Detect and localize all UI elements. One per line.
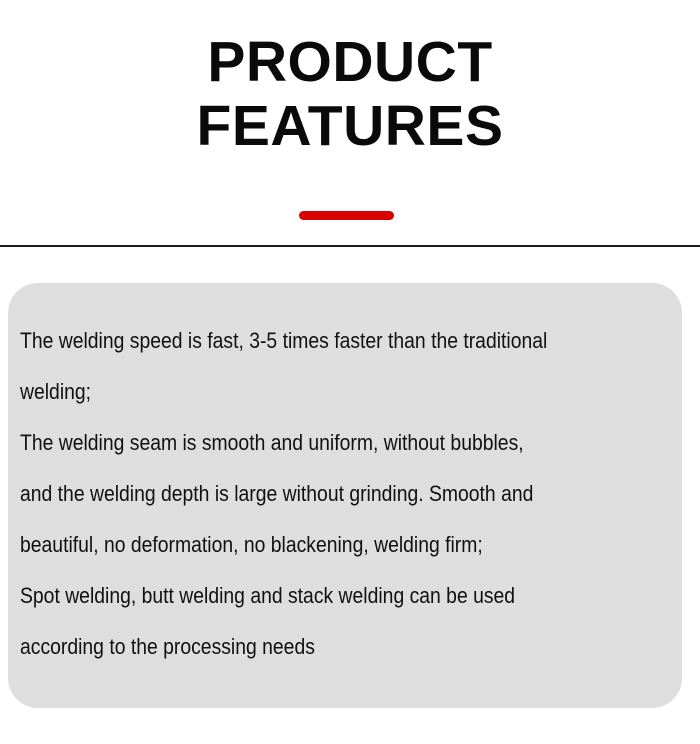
title-accent-bar [299, 211, 394, 220]
page-header: PRODUCT FEATURES [0, 0, 700, 245]
product-features-page: PRODUCT FEATURES The welding speed is fa… [0, 0, 700, 744]
feature-list-panel: The welding speed is fast, 3-5 times fas… [8, 283, 682, 708]
header-divider [0, 245, 700, 247]
page-title: PRODUCT FEATURES [0, 30, 700, 158]
feature-description-text: The welding speed is fast, 3-5 times fas… [20, 315, 596, 672]
